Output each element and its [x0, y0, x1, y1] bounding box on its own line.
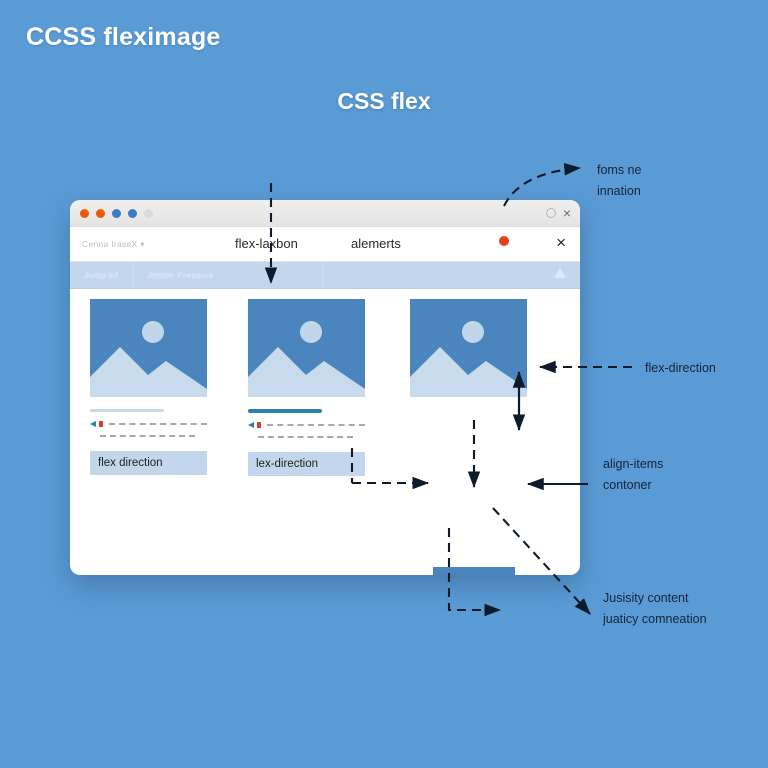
card-marker-row [248, 422, 365, 428]
annotation-forms-line-1: foms ne [597, 160, 641, 181]
square-marker-icon [99, 421, 103, 427]
small-image-card[interactable] [433, 567, 515, 575]
annotation-flex-direction: flex-direction [645, 358, 716, 379]
annotation-justify-content-line-2: juaticy comneation [603, 609, 707, 630]
annotation-align-items-line-1: align-items [603, 454, 663, 475]
dot-orange-1[interactable] [80, 209, 89, 218]
square-marker-icon [257, 422, 261, 428]
mountain-shape [90, 339, 207, 397]
card-1[interactable]: flex direction [90, 299, 207, 475]
card-2-caption: lex-direction [248, 452, 365, 476]
annotation-justify-content-line-1: Jusisity content [603, 588, 707, 609]
window-titlebar: × [70, 200, 580, 227]
annotation-align-items-line-2: contoner [603, 475, 663, 496]
image-placeholder-icon [248, 299, 365, 397]
address-bar-value: Cenna IraseX [82, 239, 138, 249]
annotation-forms-line-2: innation [597, 181, 641, 202]
close-icon[interactable]: × [563, 206, 571, 220]
tab-jump-iof[interactable]: Jump iof [70, 262, 134, 288]
mountain-shape [410, 339, 527, 397]
dashed-line [109, 423, 207, 425]
address-bar[interactable]: Cenna IraseX ▾ [82, 239, 145, 250]
browser-window: × Cenna IraseX ▾ flex-laxbon alemerts × … [70, 200, 580, 575]
dashed-line [267, 424, 365, 426]
dashed-line-2 [258, 436, 353, 438]
window-content: flex direction lex-direction [70, 289, 580, 575]
chevron-down-icon[interactable]: ▾ [140, 239, 145, 249]
annotation-align-items: align-items contoner [603, 454, 663, 495]
titlebar-window-controls: × [546, 200, 571, 226]
center-heading: CSS flex [0, 88, 768, 115]
annotation-flex-direction-line-1: flex-direction [645, 358, 716, 379]
dot-blue-1[interactable] [112, 209, 121, 218]
dot-blue-2[interactable] [128, 209, 137, 218]
card-bar-line [90, 409, 164, 412]
dot-gray[interactable] [144, 209, 153, 218]
toolbar-word-alemerts: alemerts [351, 236, 401, 251]
image-placeholder-icon [90, 299, 207, 397]
toolbar-word-flex-laxbon: flex-laxbon [235, 236, 298, 251]
image-placeholder-icon [410, 299, 527, 397]
circle-icon[interactable] [546, 208, 556, 218]
card-marker-row [90, 421, 207, 427]
page-title: CCSS fleximage [26, 23, 221, 52]
tab-jmtom-pressure[interactable]: Jmtom Pressure [134, 262, 323, 288]
annotation-justify-content: Jusisity content juaticy comneation [603, 588, 707, 629]
arrow-right-icon [248, 422, 254, 428]
card-2[interactable]: lex-direction [248, 299, 365, 476]
arrow-right-icon [90, 421, 96, 427]
card-bar-line [248, 409, 322, 413]
dashed-line-2 [100, 435, 195, 437]
card-1-caption: flex direction [90, 451, 207, 475]
toolbar-close-icon[interactable]: × [556, 234, 566, 251]
window-tabbar: Jump iof Jmtom Pressure [70, 262, 580, 289]
triangle-up-icon[interactable] [554, 268, 566, 278]
mountain-shape [248, 339, 365, 397]
annotation-forms: foms ne innation [597, 160, 641, 201]
window-toolbar: Cenna IraseX ▾ flex-laxbon alemerts × [70, 227, 580, 262]
card-3[interactable] [410, 299, 527, 397]
dot-orange-2[interactable] [96, 209, 105, 218]
